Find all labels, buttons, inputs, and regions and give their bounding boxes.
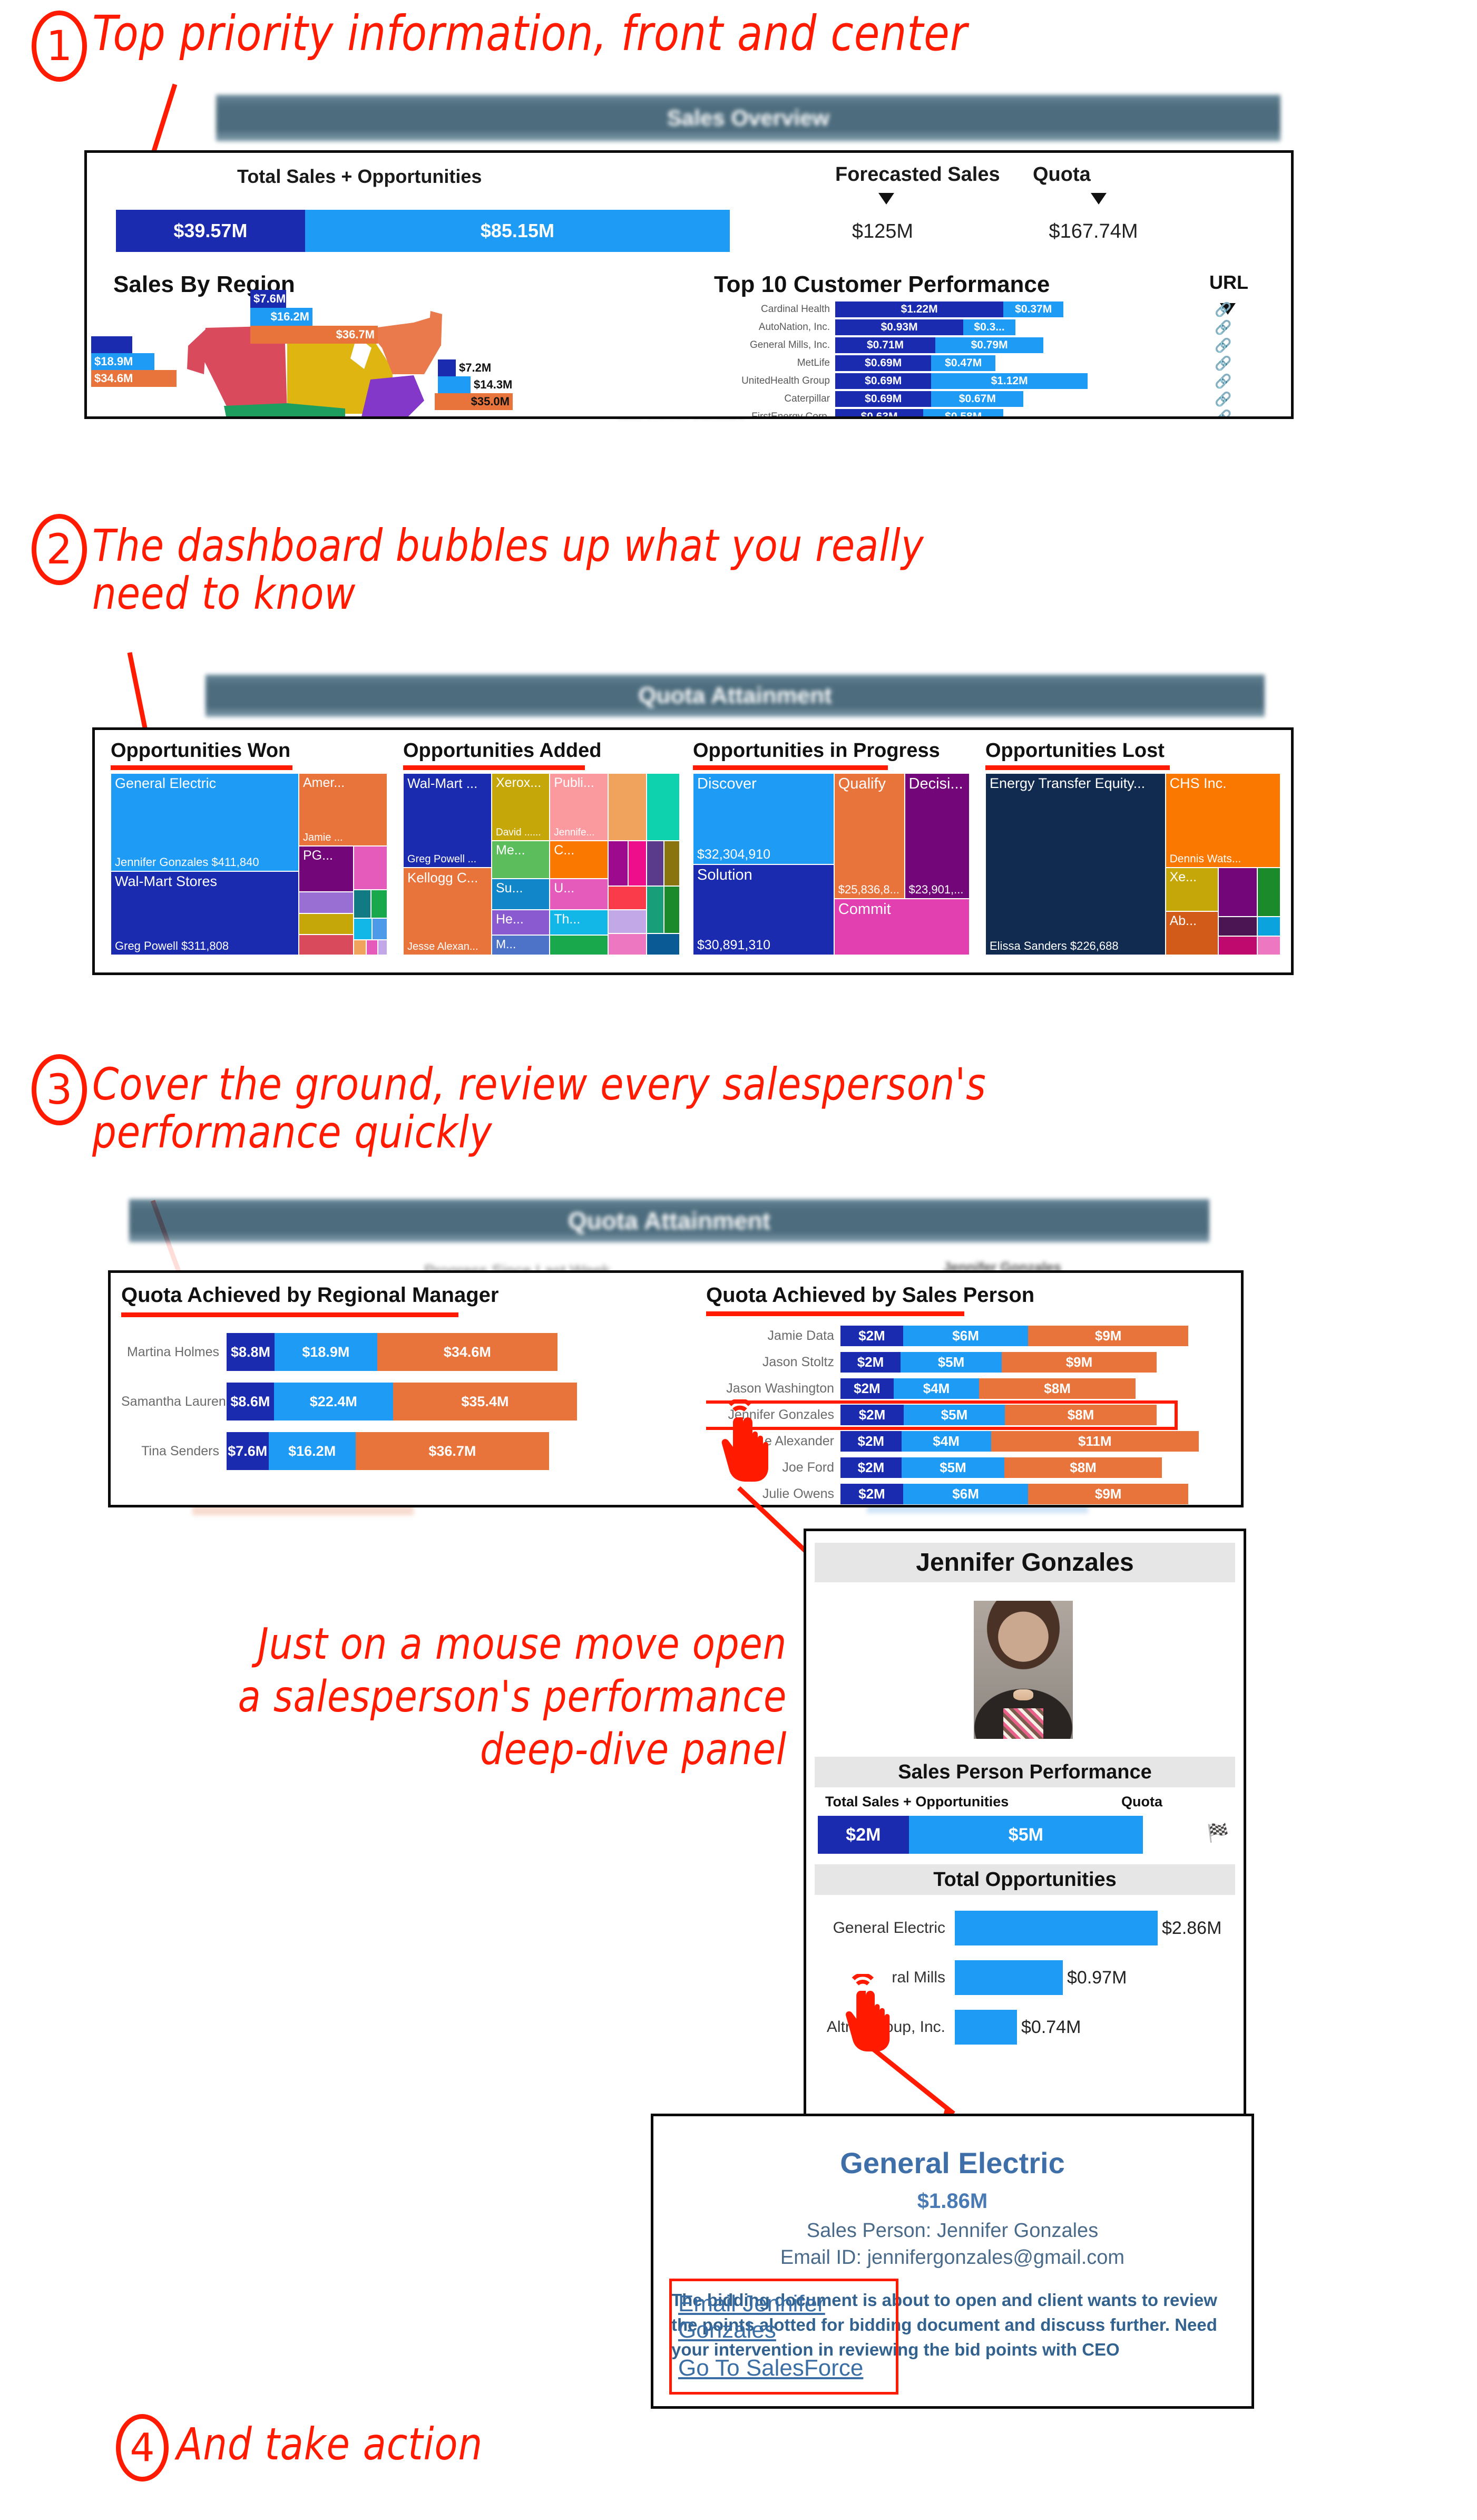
treemap-tile[interactable]: Wal-Mart Stores Greg Powell $311,808 bbox=[111, 871, 299, 955]
table-row[interactable]: UnitedHealth Group $0.69M $1.12M bbox=[714, 373, 1241, 389]
salesperson-opp-bar: $4M bbox=[894, 1378, 979, 1399]
tooltip-title: General Electric bbox=[653, 2146, 1251, 2180]
link-icon[interactable]: 🔗 bbox=[1215, 409, 1231, 419]
customer-name: MetLife bbox=[714, 357, 835, 369]
kpi-sales-segment[interactable]: $39.57M bbox=[116, 210, 305, 252]
region-se-sales: $7.2M bbox=[456, 361, 491, 375]
salesperson-opp-bar: $5M bbox=[902, 1457, 1004, 1478]
url-column-label: URL bbox=[1209, 271, 1248, 294]
salesperson-sales-bar: $2M bbox=[840, 1352, 901, 1373]
customer-name: Cardinal Health bbox=[714, 304, 835, 315]
customer-sales-bar: $0.69M bbox=[835, 355, 931, 371]
treemap-tile[interactable]: Kellogg C... Jesse Alexan... bbox=[403, 868, 492, 955]
total-opportunities-header: Total Opportunities bbox=[815, 1864, 1235, 1895]
customer-performance-list: Cardinal Health $1.22M $0.37M AutoNation… bbox=[714, 301, 1241, 419]
treemap-opportunities-won[interactable]: Opportunities Won General Electric Jenni… bbox=[111, 740, 387, 961]
performance-quota-label: Quota bbox=[1121, 1794, 1162, 1810]
treemap-underline bbox=[111, 765, 292, 770]
link-icon[interactable]: 🔗 bbox=[1215, 319, 1231, 337]
treemap-tile[interactable]: M... bbox=[492, 935, 550, 955]
sales-person-performance-header: Sales Person Performance bbox=[815, 1757, 1235, 1787]
treemap-tile[interactable] bbox=[1257, 936, 1280, 955]
salesperson-sales-bar: $2M bbox=[840, 1431, 902, 1452]
tooltip-amount: $1.86M bbox=[653, 2190, 1251, 2213]
manager-quota-bar: $36.7M bbox=[356, 1432, 549, 1470]
kpi-quota-value: $167.74M bbox=[1035, 220, 1151, 243]
us-map-svg bbox=[119, 295, 693, 419]
customer-opp-bar: $0.67M bbox=[931, 391, 1023, 407]
treemap-tile[interactable] bbox=[354, 918, 372, 940]
customer-name: General Mills, Inc. bbox=[714, 339, 835, 351]
kpi-total-label: Total Sales + Opportunities bbox=[237, 166, 482, 188]
treemap-underline bbox=[693, 765, 888, 770]
customer-name: AutoNation, Inc. bbox=[714, 322, 835, 333]
treemap-tile[interactable]: Ab... bbox=[1166, 911, 1218, 955]
annotation-number-4: 4 bbox=[116, 2414, 169, 2482]
customer-opp-bar: $0.47M bbox=[931, 355, 995, 371]
salesperson-opp-bar: $6M bbox=[903, 1326, 1029, 1346]
opportunity-value: $0.74M bbox=[1017, 2017, 1081, 2038]
treemap-tiles: Wal-Mart ... Greg Powell ... Kellogg C..… bbox=[403, 773, 680, 955]
treemap-tile[interactable]: Me... bbox=[492, 841, 550, 879]
manager-name: Samantha Lauren bbox=[121, 1394, 227, 1409]
manager-opp-bar: $16.2M bbox=[269, 1432, 356, 1470]
email-jennifer-gonzales-link[interactable]: Email Jennifer Gonzales bbox=[678, 2291, 889, 2343]
sales-by-region-map[interactable]: $7.6M $16.2M $36.7M $18.9M $34.6M $7.2M … bbox=[119, 295, 693, 419]
region-west-sales bbox=[91, 336, 132, 353]
treemap-tile[interactable] bbox=[647, 773, 680, 841]
treemap-tile[interactable] bbox=[664, 886, 680, 933]
table-row[interactable]: e Alexander $2M $4M $11M bbox=[706, 1431, 1233, 1452]
performance-total-label: Total Sales + Opportunities bbox=[825, 1794, 1009, 1810]
manager-quota-bar: $34.6M bbox=[377, 1333, 557, 1371]
treemap-tile[interactable] bbox=[378, 940, 387, 955]
table-row[interactable]: AutoNation, Inc. $0.93M $0.3... bbox=[714, 319, 1241, 335]
manager-quota-bar: $35.4M bbox=[393, 1383, 577, 1420]
treemap-tile[interactable] bbox=[366, 940, 378, 955]
treemap-tile[interactable] bbox=[550, 935, 608, 955]
treemap-tile[interactable] bbox=[1257, 868, 1280, 917]
chart-title: Quota Achieved by Regional Manager bbox=[121, 1283, 674, 1307]
table-row[interactable]: General Mills, Inc. $0.71M $0.79M bbox=[714, 337, 1241, 353]
manager-opp-bar: $18.9M bbox=[275, 1333, 377, 1371]
salesperson-quota-bar: $9M bbox=[1028, 1484, 1188, 1504]
treemap-tile[interactable]: Xerox... David ...... bbox=[492, 773, 550, 841]
chart-underline bbox=[706, 1311, 964, 1316]
salesperson-quota-bar: $8M bbox=[1004, 1457, 1162, 1478]
region-west-quota: $34.6M bbox=[91, 370, 177, 387]
treemap-tile[interactable]: PG... bbox=[299, 846, 354, 892]
treemap-tile[interactable]: Discover $32,304,910 bbox=[693, 773, 834, 864]
annotation-text-2: The dashboard bubbles up what you really… bbox=[92, 522, 924, 617]
table-row[interactable]: MetLife $0.69M $0.47M bbox=[714, 355, 1241, 371]
treemap-tile[interactable] bbox=[354, 846, 387, 890]
treemap-title: Opportunities Lost bbox=[985, 740, 1280, 762]
treemap-tile[interactable] bbox=[371, 890, 387, 918]
table-row[interactable]: Jamie Data $2M $6M $9M bbox=[706, 1326, 1233, 1346]
salesperson-quota-bar: $9M bbox=[1002, 1352, 1157, 1373]
quota-by-regional-manager-chart: Quota Achieved by Regional Manager Marti… bbox=[121, 1283, 674, 1500]
forecast-marker-icon bbox=[878, 193, 894, 205]
treemap-tiles: General Electric Jennifer Gonzales $411,… bbox=[111, 773, 387, 955]
treemap-tile[interactable] bbox=[354, 940, 366, 955]
dashboard1-title-bar: Sales Overview bbox=[216, 95, 1280, 141]
treemap-tile[interactable] bbox=[647, 933, 680, 955]
salesperson-sales-bar: $2M bbox=[840, 1457, 902, 1478]
region-north-opp: $16.2M bbox=[250, 308, 312, 326]
treemap-tile[interactable]: Qualify $25,836,8... bbox=[834, 773, 905, 899]
treemap-tile[interactable]: He... bbox=[492, 910, 550, 935]
treemap-tile[interactable]: Amer... Jamie ... bbox=[299, 773, 387, 846]
quota-by-sales-person-chart: Quota Achieved by Sales Person Jamie Dat… bbox=[706, 1283, 1233, 1505]
treemap-title: Opportunities Added bbox=[403, 740, 680, 762]
table-row[interactable]: Jason Washington $2M $4M $8M bbox=[706, 1378, 1233, 1399]
performance-sales-segment: $2M bbox=[818, 1816, 909, 1854]
dashboard3-title-bar: Quota Attainment bbox=[129, 1199, 1209, 1242]
table-row-highlighted[interactable]: Jennifer Gonzales $2M $5M $8M bbox=[706, 1405, 1233, 1425]
salesperson-opp-bar: $4M bbox=[902, 1431, 991, 1452]
table-row[interactable]: FirstEnergy Corp. $0.63M $0.58M bbox=[714, 409, 1241, 419]
link-icon[interactable]: 🔗 bbox=[1215, 301, 1231, 319]
go-to-salesforce-link[interactable]: Go To SalesForce bbox=[678, 2355, 889, 2381]
chart-underline bbox=[121, 1312, 458, 1317]
customer-sales-bar: $1.22M bbox=[835, 301, 1003, 317]
annotation-text-3: Cover the ground, review every salespers… bbox=[92, 1060, 986, 1156]
table-row[interactable]: Jason Stoltz $2M $5M $9M bbox=[706, 1352, 1233, 1373]
customer-name: UnitedHealth Group bbox=[714, 375, 835, 387]
salesperson-name: Jason Stoltz bbox=[706, 1355, 840, 1370]
treemap-tile[interactable] bbox=[299, 935, 354, 955]
dashboard2-title-bar: Quota Attainment bbox=[206, 675, 1265, 717]
annotation-number-3: 3 bbox=[32, 1054, 87, 1125]
region-badge-west: $18.9M $34.6M bbox=[91, 336, 177, 387]
treemap-tile[interactable] bbox=[1257, 917, 1280, 936]
manager-sales-bar: $8.6M bbox=[227, 1383, 274, 1420]
treemap-tile[interactable]: Energy Transfer Equity... Elissa Sanders… bbox=[985, 773, 1166, 955]
treemap-tile[interactable]: Commit bbox=[834, 899, 970, 955]
treemap-tile[interactable]: Th... bbox=[550, 910, 608, 935]
performance-stacked-bar[interactable]: $2M $5M bbox=[818, 1816, 1143, 1854]
link-icon[interactable]: 🔗 bbox=[1215, 355, 1231, 373]
treemap-tile[interactable] bbox=[299, 913, 354, 934]
kpi-forecast-value: $125M bbox=[835, 220, 930, 243]
kpi-stacked-bar[interactable]: $39.57M $85.15M bbox=[116, 210, 730, 252]
treemap-underline bbox=[403, 765, 585, 770]
treemap-tile[interactable] bbox=[608, 886, 647, 910]
treemap-tile[interactable] bbox=[372, 918, 387, 940]
treemap-tile[interactable] bbox=[1218, 936, 1257, 955]
treemap-tile[interactable]: General Electric Jennifer Gonzales $411,… bbox=[111, 773, 299, 871]
manager-sales-bar: $8.8M bbox=[227, 1333, 275, 1371]
treemap-title: Opportunities in Progress bbox=[693, 740, 970, 762]
customer-opp-bar: $0.3... bbox=[963, 319, 1015, 335]
treemap-tile[interactable]: Xe... bbox=[1166, 868, 1218, 911]
dashboard2-panel: Opportunities Won General Electric Jenni… bbox=[92, 727, 1294, 975]
customer-opp-bar: $1.12M bbox=[931, 373, 1087, 389]
opportunity-bar bbox=[955, 2010, 1017, 2045]
manager-name: Tina Senders bbox=[121, 1444, 227, 1459]
avatar bbox=[974, 1601, 1073, 1739]
opportunity-name: General Electric bbox=[817, 1919, 955, 1937]
salesperson-quota-bar: $11M bbox=[991, 1431, 1199, 1452]
annotation-number-2: 2 bbox=[32, 514, 87, 585]
region-west-opp: $18.9M bbox=[91, 353, 154, 370]
performance-opp-segment: $5M bbox=[909, 1816, 1143, 1854]
link-icon[interactable]: 🔗 bbox=[1215, 337, 1231, 355]
treemap-tile[interactable] bbox=[628, 841, 647, 886]
treemap-tile[interactable]: CHS Inc. Dennis Wats... bbox=[1166, 773, 1280, 868]
tooltip-action-links: Email Jennifer Gonzales Go To SalesForce bbox=[669, 2279, 898, 2395]
table-row[interactable]: Martina Holmes $8.8M $18.9M $34.6M bbox=[121, 1333, 674, 1371]
treemap-tile[interactable] bbox=[1218, 917, 1257, 936]
treemap-tile[interactable] bbox=[299, 892, 354, 913]
dashboard3-panel: Quota Achieved by Regional Manager Marti… bbox=[108, 1270, 1244, 1507]
kpi-forecast-label: Forecasted Sales bbox=[835, 163, 1000, 186]
treemap-tile[interactable]: Wal-Mart ... Greg Powell ... bbox=[403, 773, 492, 868]
region-north-sales: $7.6M bbox=[250, 290, 286, 308]
treemap-tile[interactable]: C... bbox=[550, 841, 608, 879]
link-icon[interactable]: 🔗 bbox=[1215, 373, 1231, 391]
treemap-tile[interactable] bbox=[608, 933, 647, 955]
opportunity-bar bbox=[955, 1911, 1158, 1945]
customer-name: FirstEnergy Corp. bbox=[714, 411, 835, 419]
hand-cursor-icon bbox=[714, 1399, 782, 1492]
table-row[interactable]: General Electric $2.86M bbox=[817, 1911, 1238, 1945]
treemap-underline bbox=[985, 765, 1170, 770]
treemap-opportunities-lost[interactable]: Opportunities Lost Energy Transfer Equit… bbox=[985, 740, 1280, 961]
top-customer-performance-title: Top 10 Customer Performance bbox=[714, 271, 1050, 298]
manager-name: Martina Holmes bbox=[121, 1345, 227, 1360]
opportunity-value: $2.86M bbox=[1158, 1918, 1221, 1939]
url-link-column: 🔗 🔗 🔗 🔗 🔗 🔗 🔗 bbox=[1215, 301, 1231, 419]
treemap-tile[interactable] bbox=[664, 841, 680, 886]
link-icon[interactable]: 🔗 bbox=[1215, 391, 1231, 409]
table-row[interactable]: Caterpillar $0.69M $0.67M bbox=[714, 391, 1241, 407]
treemap-tile[interactable] bbox=[354, 890, 371, 918]
treemap-tile[interactable]: Publi... Jennife... bbox=[550, 773, 608, 841]
table-row[interactable]: Joe Ford $2M $5M $8M bbox=[706, 1457, 1233, 1478]
treemap-tile[interactable]: Decisi... $23,901,... bbox=[905, 773, 970, 899]
region-north-quota: $36.7M bbox=[250, 326, 378, 344]
annotation-text-4: And take action bbox=[177, 2420, 483, 2468]
annotation-number-1: 1 bbox=[32, 11, 87, 82]
manager-opp-bar: $22.4M bbox=[274, 1383, 393, 1420]
region-se-quota: $35.0M bbox=[435, 393, 513, 410]
region-badge-southeast: $7.2M $14.3M $35.0M bbox=[435, 359, 515, 410]
annotation-text-1: Top priority information, front and cent… bbox=[92, 7, 967, 60]
salesperson-quota-bar: $8M bbox=[979, 1378, 1136, 1399]
treemap-title: Opportunities Won bbox=[111, 740, 387, 762]
opportunity-value: $0.97M bbox=[1063, 1968, 1127, 1988]
opportunity-bar bbox=[955, 1960, 1063, 1995]
region-badge-north: $7.6M $16.2M $36.7M bbox=[250, 290, 378, 344]
treemap-tile[interactable] bbox=[647, 886, 664, 933]
table-row[interactable]: Cardinal Health $1.22M $0.37M bbox=[714, 301, 1241, 317]
customer-sales-bar: $0.63M bbox=[835, 409, 923, 419]
customer-sales-bar: $0.71M bbox=[835, 337, 935, 353]
treemap-tiles: Energy Transfer Equity... Elissa Sanders… bbox=[985, 773, 1280, 955]
checkered-flag-icon: 🏁 bbox=[1207, 1823, 1229, 1844]
treemap-opportunities-added[interactable]: Opportunities Added Wal-Mart ... Greg Po… bbox=[403, 740, 680, 961]
kpi-quota-label: Quota bbox=[1033, 163, 1091, 186]
treemap-tile[interactable]: Su... bbox=[492, 879, 550, 910]
salesperson-name: Jason Washington bbox=[706, 1381, 840, 1396]
treemap-tile[interactable] bbox=[608, 910, 647, 933]
chart-title: Quota Achieved by Sales Person bbox=[706, 1283, 1233, 1307]
salesperson-sales-bar: $2M bbox=[840, 1378, 894, 1399]
customer-sales-bar: $0.93M bbox=[835, 319, 963, 335]
treemap-tile[interactable]: Solution $30,891,310 bbox=[693, 864, 834, 956]
treemap-tiles: Discover $32,304,910 Solution $30,891,31… bbox=[693, 773, 970, 955]
treemap-tile[interactable] bbox=[647, 841, 664, 886]
table-row[interactable]: Samantha Lauren $8.6M $22.4M $35.4M bbox=[121, 1383, 674, 1420]
person-card-header: Jennifer Gonzales bbox=[815, 1543, 1235, 1582]
table-row[interactable]: Tina Senders $7.6M $16.2M $36.7M bbox=[121, 1432, 674, 1470]
customer-sales-bar: $0.69M bbox=[835, 373, 931, 389]
salesperson-quota-bar: $9M bbox=[1028, 1326, 1188, 1346]
customer-opp-bar: $0.79M bbox=[935, 337, 1043, 353]
customer-name: Caterpillar bbox=[714, 393, 835, 405]
customer-opp-bar: $0.58M bbox=[923, 409, 1003, 419]
tooltip-sales-person: Sales Person: Jennifer Gonzales bbox=[653, 2220, 1251, 2242]
region-se-opp: $14.3M bbox=[471, 378, 512, 392]
quota-marker-icon bbox=[1091, 193, 1107, 205]
treemap-opportunities-in-progress[interactable]: Opportunities in Progress Discover $32,3… bbox=[693, 740, 970, 961]
manager-sales-bar: $7.6M bbox=[227, 1432, 269, 1470]
opportunity-tooltip-card: General Electric $1.86M Sales Person: Je… bbox=[651, 2114, 1254, 2409]
treemap-tile[interactable]: U... bbox=[550, 879, 608, 910]
customer-sales-bar: $0.69M bbox=[835, 391, 931, 407]
salesperson-sales-bar: $2M bbox=[840, 1326, 903, 1346]
tooltip-email-id: Email ID: jennifergonzales@gmail.com bbox=[653, 2246, 1251, 2269]
region-se-opp-row: $14.3M bbox=[435, 376, 515, 393]
dashboard1-panel: Total Sales + Opportunities Forecasted S… bbox=[84, 150, 1294, 419]
kpi-opportunities-segment[interactable]: $85.15M bbox=[305, 210, 730, 252]
treemap-tile[interactable] bbox=[1218, 868, 1257, 917]
treemap-tile[interactable] bbox=[608, 773, 647, 841]
customer-opp-bar: $0.37M bbox=[1003, 301, 1063, 317]
region-se-sales-row: $7.2M bbox=[435, 359, 494, 376]
salesperson-name: Jamie Data bbox=[706, 1328, 840, 1344]
annotation-text-mouse-move: Just on a mouse move open a salesperson'… bbox=[238, 1618, 787, 1776]
salesperson-opp-bar: $5M bbox=[901, 1352, 1002, 1373]
treemap-tile[interactable] bbox=[608, 841, 628, 886]
